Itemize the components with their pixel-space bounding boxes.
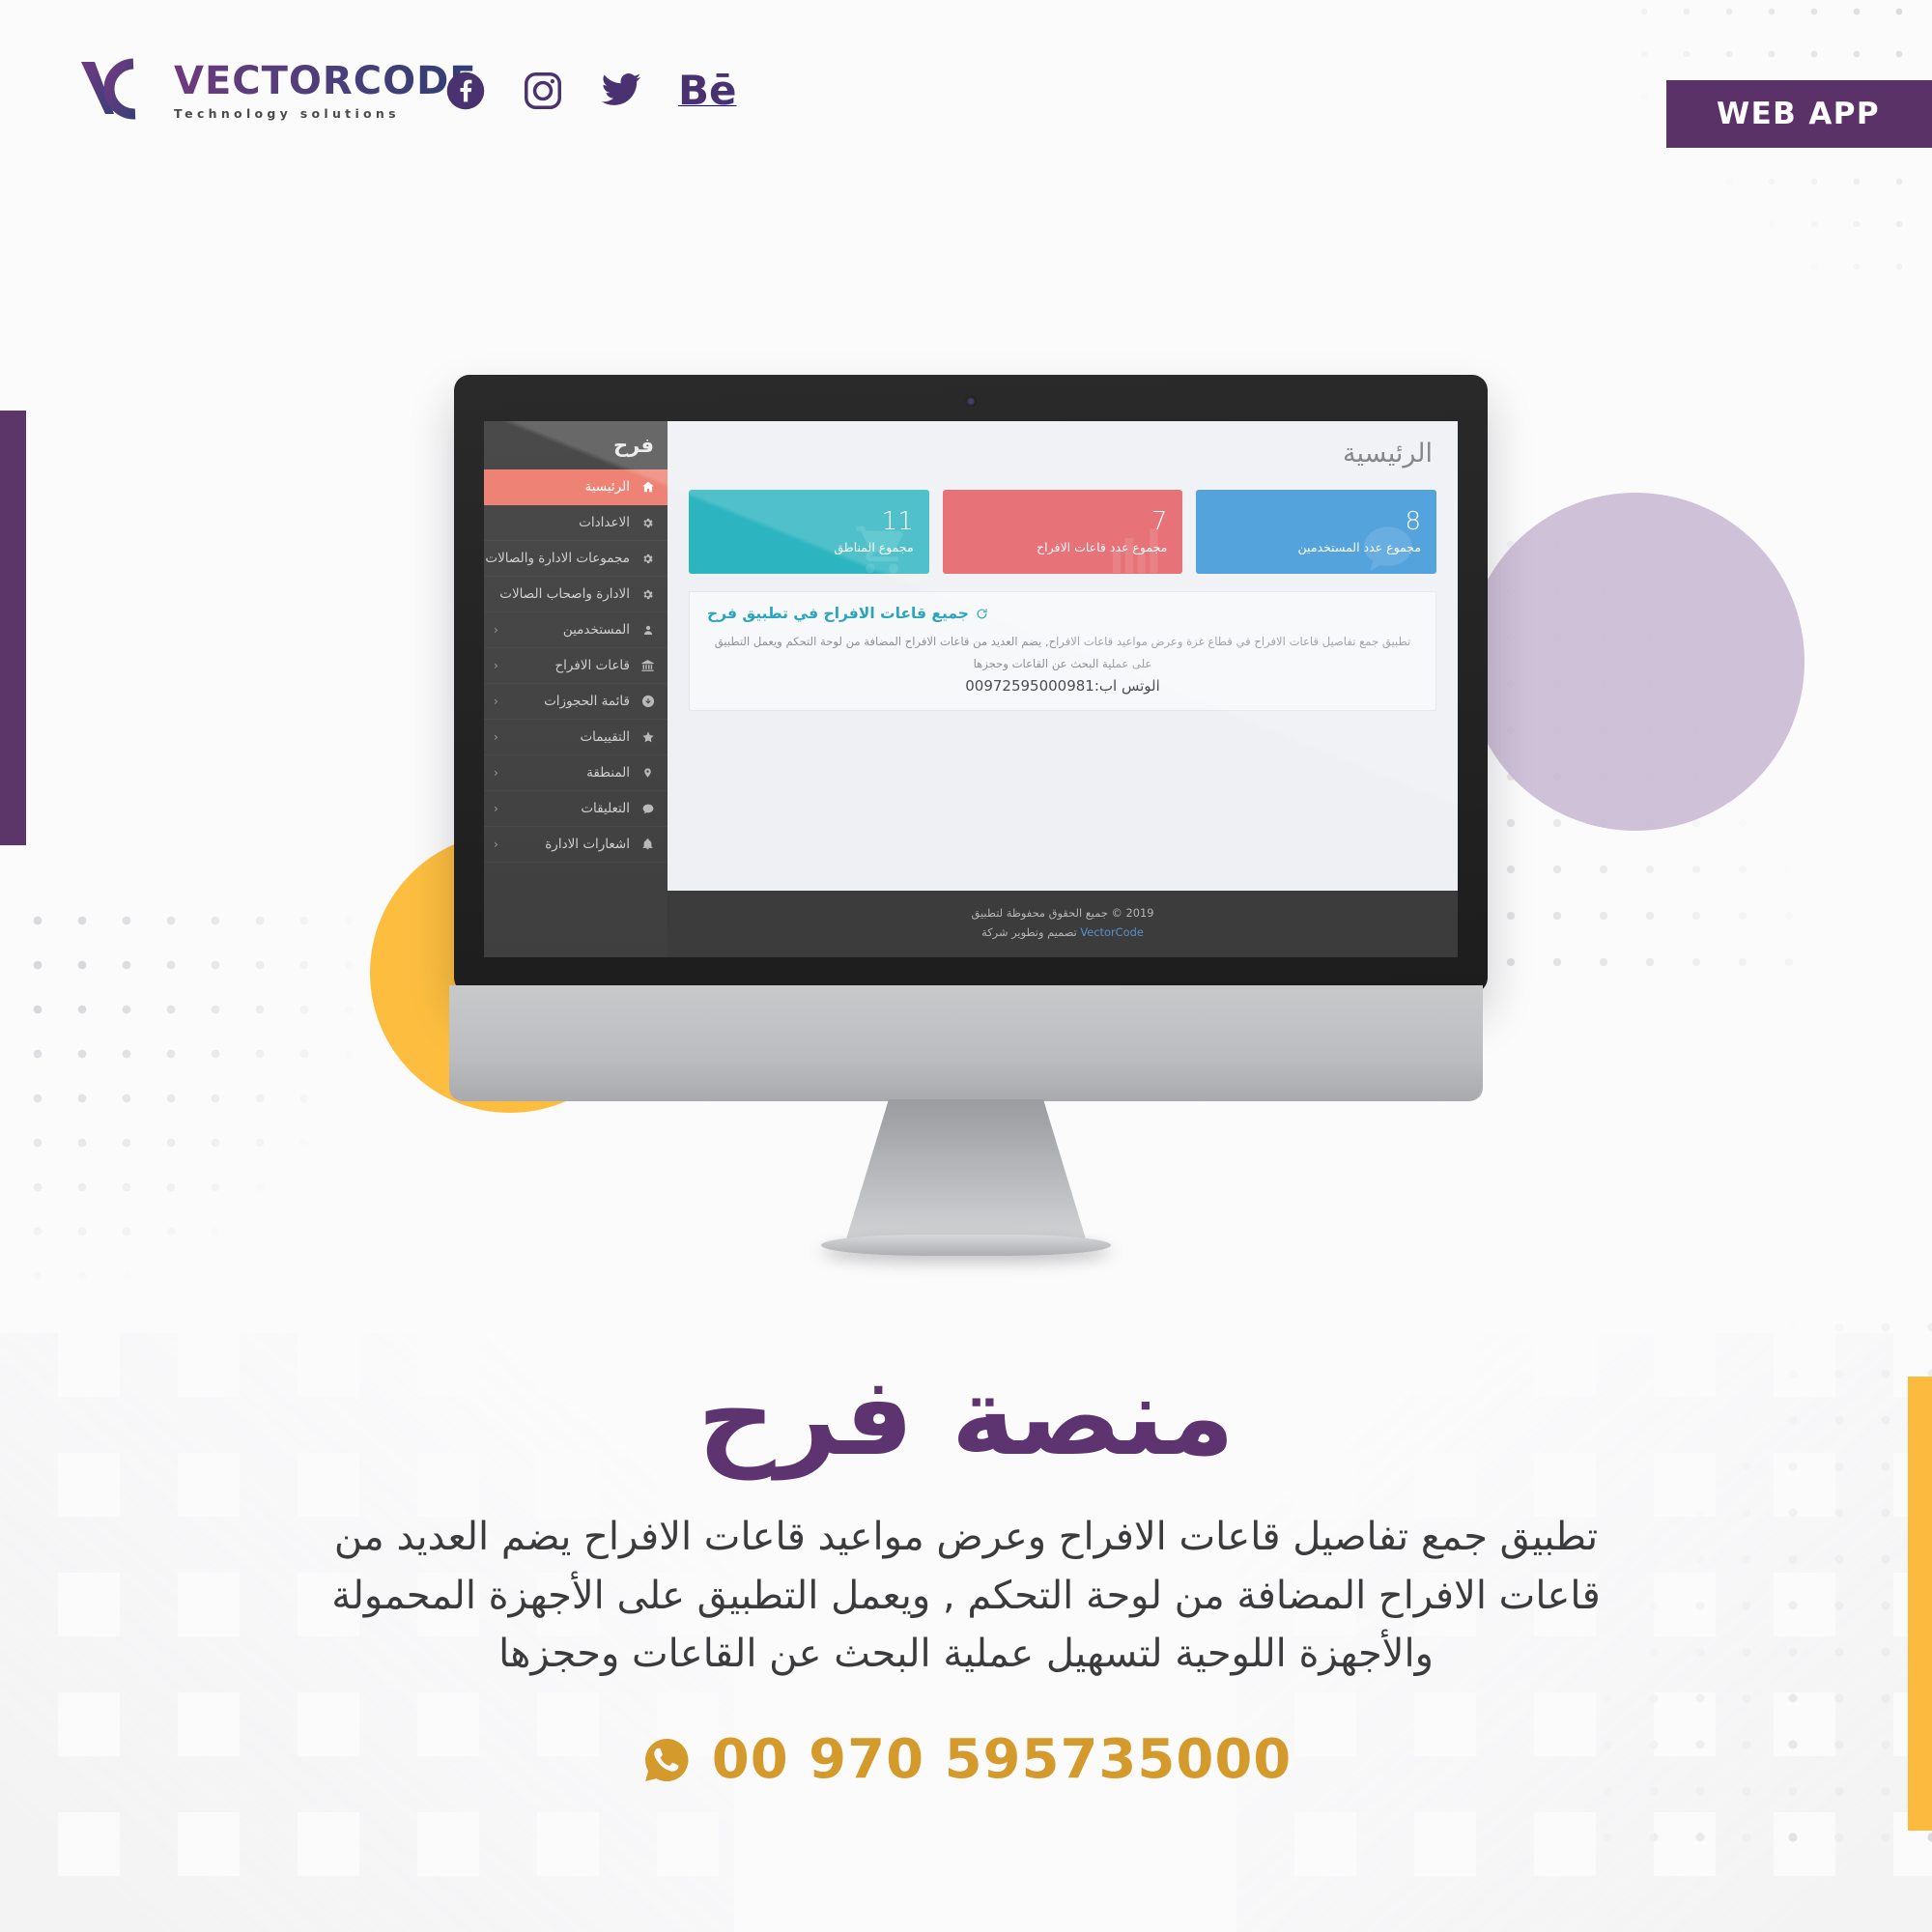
bank-icon [639, 659, 656, 672]
behance-icon[interactable]: Bē [678, 71, 737, 111]
dot-pattern-middle-right [1488, 522, 1806, 976]
gear-icon [639, 553, 656, 565]
brand-name: VECTORCODE [174, 62, 477, 100]
sidebar-item-label: المنطقة [508, 765, 630, 781]
vectorcode-credit: VectorCode [1080, 925, 1143, 939]
stat-card-regions[interactable]: 11 مجموع المناطق [689, 490, 929, 574]
sidebar-item-admin-hall-owners[interactable]: الادارة واصحاب الصالات [484, 577, 668, 612]
comment-icon [639, 803, 656, 815]
info-panel-body: تطبيق جمع تفاصيل قاعات الافراح في قطاع غ… [707, 631, 1418, 674]
sidebar-item-region[interactable]: المنطقة ‹ [484, 755, 668, 791]
credit-prefix: تصميم وتطوير شركة [981, 925, 1077, 939]
stat-label: مجموع عدد المستخدمين [1211, 540, 1421, 554]
poster-header: VECTORCODE Technology solutions [0, 0, 1932, 169]
sidebar-item-label: مجموعات الادارة والصالات [485, 551, 630, 566]
user-icon [639, 624, 656, 637]
chevron-left-icon: ‹ [494, 766, 498, 780]
facebook-icon[interactable] [444, 70, 487, 112]
info-panel-header: جميع قاعات الافراح في تطبيق فرح [707, 605, 1418, 622]
brand-logo: VECTORCODE Technology solutions [75, 54, 477, 128]
sidebar-item-home[interactable]: الرئيسية [484, 469, 668, 505]
page-header: الرئيسية [668, 421, 1458, 476]
dot-pattern-left [0, 898, 377, 1304]
hero-title: منصة فرح [0, 1360, 1932, 1475]
web-app-badge[interactable]: WEB APP [1666, 80, 1932, 148]
credit-line: VectorCode تصميم وتطوير شركة [689, 923, 1436, 942]
whatsapp-label: الوتس اب [1099, 677, 1160, 695]
whatsapp-icon [640, 1734, 693, 1786]
vc-monogram-icon [75, 54, 153, 128]
sidebar-item-bookings-list[interactable]: قائمة الحجوزات ‹ [484, 684, 668, 720]
chevron-left-icon: ‹ [494, 838, 498, 851]
sidebar-item-admin-notifications[interactable]: اشعارات الادارة ‹ [484, 827, 668, 863]
app-content: الرئيسية 11 مجموع المناطق [668, 421, 1458, 957]
stat-card-row: 11 مجموع المناطق 7 مجموع عدد قاعات الافر… [668, 476, 1458, 583]
chevron-left-icon: ‹ [494, 802, 498, 815]
purple-accent-bar [0, 411, 26, 845]
sidebar-item-wedding-halls[interactable]: قاعات الافراح ‹ [484, 648, 668, 684]
refresh-icon[interactable] [976, 608, 988, 620]
whatsapp-number: 00972595000981 [965, 677, 1094, 695]
monitor-base [821, 1235, 1111, 1256]
sidebar-menu: الرئيسية الاعدادات [484, 469, 668, 863]
sidebar-item-label: التعليقات [508, 801, 630, 816]
chevron-left-icon: ‹ [494, 695, 498, 708]
sidebar-item-comments[interactable]: التعليقات ‹ [484, 791, 668, 827]
webcam-icon [966, 396, 977, 407]
page-title: الرئيسية [693, 439, 1433, 469]
gear-icon [639, 517, 656, 529]
sidebar-item-label: اشعارات الادارة [508, 837, 630, 852]
stat-label: مجموع المناطق [704, 540, 914, 554]
chevron-left-icon: ‹ [494, 730, 498, 744]
stat-label: مجموع عدد قاعات الافراح [958, 540, 1168, 554]
instagram-icon[interactable] [522, 70, 564, 112]
desktop-monitor-mockup: فرح الرئيسية [454, 375, 1488, 993]
sidebar-item-label: قاعات الافراح [508, 658, 630, 673]
purple-circle-shape [1466, 493, 1804, 831]
app-footer: 2019 © جميع الحقوق محفوظة لتطبيق VectorC… [668, 891, 1458, 957]
dashboard-page: الرئيسية 11 مجموع المناطق [668, 421, 1458, 891]
hero-section: منصة فرح تطبيق جمع تفاصيل قاعات الافراح … [0, 1360, 1932, 1791]
info-panel-title: جميع قاعات الافراح في تطبيق فرح [707, 605, 969, 622]
gear-icon [639, 588, 656, 601]
map-pin-icon [639, 766, 656, 780]
sidebar-item-users[interactable]: المستخدمين ‹ [484, 612, 668, 648]
sidebar-item-label: الادارة واصحاب الصالات [499, 586, 630, 602]
monitor-chin [449, 985, 1483, 1101]
info-panel: جميع قاعات الافراح في تطبيق فرح تطبيق جم… [689, 591, 1436, 711]
download-circle-icon [639, 695, 656, 708]
sidebar-item-label: التقييمات [508, 729, 630, 745]
copyright-line: 2019 © جميع الحقوق محفوظة لتطبيق [689, 904, 1436, 923]
bell-icon [639, 838, 656, 851]
chevron-left-icon: ‹ [494, 659, 498, 672]
sidebar-item-label: المستخدمين [508, 622, 630, 638]
hero-description: تطبيق جمع تفاصيل قاعات الافراح وعرض مواع… [309, 1508, 1623, 1684]
info-panel-phone: الوتس اب:00972595000981 [707, 677, 1418, 695]
phone-number: 00 970 595735000 [712, 1728, 1293, 1791]
sidebar-item-admin-hall-groups[interactable]: مجموعات الادارة والصالات [484, 541, 668, 577]
sidebar-logo: فرح [484, 421, 668, 469]
monitor-neck [845, 1099, 1087, 1242]
star-icon [639, 730, 656, 744]
home-icon [639, 480, 656, 494]
stat-card-halls[interactable]: 7 مجموع عدد قاعات الافراح [943, 490, 1183, 574]
contact-phone[interactable]: 00 970 595735000 [0, 1728, 1932, 1791]
sidebar-item-ratings[interactable]: التقييمات ‹ [484, 720, 668, 755]
twitter-icon[interactable] [599, 70, 643, 112]
poster-canvas: VECTORCODE Technology solutions [0, 0, 1932, 1932]
sidebar-item-label: قائمة الحجوزات [508, 694, 630, 709]
sidebar-item-label: الاعدادات [503, 515, 630, 530]
farah-admin-app: فرح الرئيسية [484, 421, 1458, 957]
chevron-left-icon: ‹ [494, 623, 498, 637]
sidebar-item-label: الرئيسية [503, 479, 630, 495]
sidebar-item-settings[interactable]: الاعدادات [484, 505, 668, 541]
brand-tagline: Technology solutions [174, 106, 477, 121]
stat-card-users[interactable]: 8 مجموع عدد المستخدمين [1196, 490, 1436, 574]
social-links: Bē [444, 70, 737, 112]
monitor-screen: فرح الرئيسية [484, 421, 1458, 957]
app-sidebar: فرح الرئيسية [484, 421, 668, 957]
behance-label: Bē [678, 67, 737, 114]
